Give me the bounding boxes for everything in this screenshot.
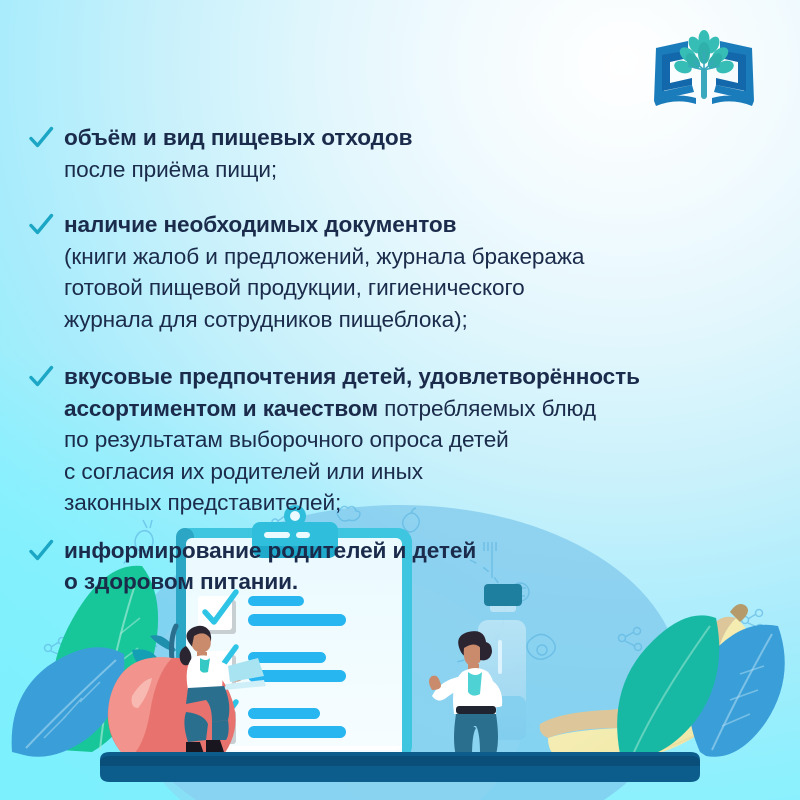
check-icon bbox=[28, 125, 54, 151]
face bbox=[192, 633, 211, 652]
check-icon bbox=[28, 212, 54, 238]
bullet-list: объём и вид пищевых отходовпосле приёма … bbox=[26, 122, 778, 598]
line-bar bbox=[248, 726, 346, 738]
check-icon bbox=[28, 538, 54, 564]
bullet-line: готовой пищевой продукции, гигиеническог… bbox=[64, 272, 778, 304]
shirt bbox=[468, 672, 482, 696]
list-item: вкусовые предпочтения детей, удовлетворё… bbox=[26, 361, 778, 519]
list-item: наличие необходимых документов(книги жал… bbox=[26, 209, 778, 335]
bullet-line: наличие необходимых документов bbox=[64, 209, 778, 241]
bullet-line: (книги жалоб и предложений, журнала брак… bbox=[64, 241, 778, 273]
leg bbox=[212, 720, 229, 740]
platform-bar bbox=[100, 752, 700, 782]
molecule-outline-icon-3 bbox=[45, 645, 52, 652]
line-bar bbox=[248, 614, 346, 626]
bullet-line: информирование родителей и детей bbox=[64, 535, 778, 567]
check-icon bbox=[28, 364, 54, 390]
line-bar bbox=[248, 708, 320, 719]
list-item: информирование родителей и детейо здоров… bbox=[26, 535, 778, 598]
line-bar bbox=[248, 652, 326, 663]
bullet-line: объём и вид пищевых отходов bbox=[64, 122, 778, 154]
belt bbox=[456, 706, 496, 714]
bullet-line: вкусовые предпочтения детей, удовлетворё… bbox=[64, 361, 778, 393]
bullet-line: журнала для сотрудников пищеблока); bbox=[64, 304, 778, 336]
list-item: объём и вид пищевых отходовпосле приёма … bbox=[26, 122, 778, 185]
bullet-line: законных представителей; bbox=[64, 487, 778, 519]
line-bar bbox=[248, 596, 304, 606]
logo-svg bbox=[648, 28, 760, 114]
bullet-line: ассортиментом и качеством потребляемых б… bbox=[64, 393, 778, 425]
poster-root: объём и вид пищевых отходовпосле приёма … bbox=[0, 0, 800, 800]
tree-trunk bbox=[701, 68, 707, 99]
book-with-tree-logo bbox=[648, 28, 760, 114]
bullet-line: по результатам выборочного опроса детей bbox=[64, 424, 778, 456]
bullet-line: о здоровом питании. bbox=[64, 566, 778, 598]
bullet-line: с согласия их родителей или иных bbox=[64, 456, 778, 488]
bullet-line: после приёма пищи; bbox=[64, 154, 778, 186]
